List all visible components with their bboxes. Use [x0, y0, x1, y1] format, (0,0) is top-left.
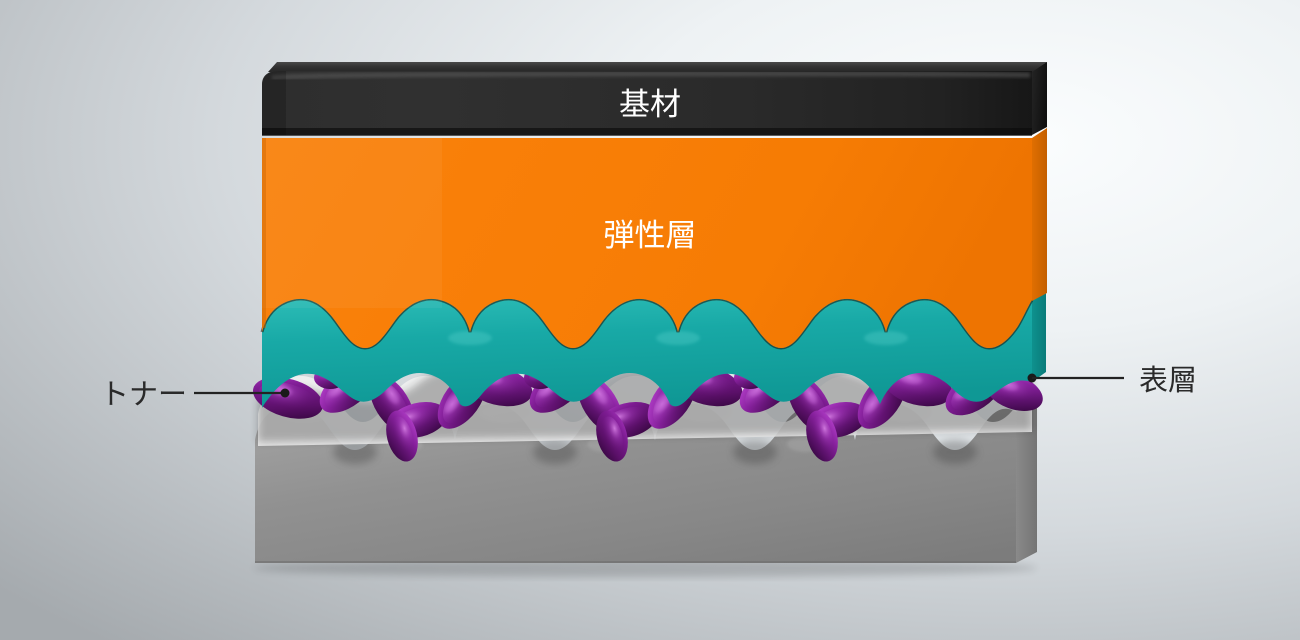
- elastic-side-face: [1032, 128, 1047, 301]
- toner-leader-dot: [281, 389, 290, 398]
- base-side-face: [1032, 62, 1047, 135]
- base-bottom-shadow: [262, 128, 1032, 136]
- base-top-face: [268, 62, 1047, 72]
- diagram-stage: 基材 弾性層 トナー 表層: [0, 0, 1300, 640]
- elastic-layer-label: 弾性層: [604, 218, 697, 254]
- base-left-edge-shade: [262, 71, 286, 135]
- elastic-left-edge: [262, 138, 266, 328]
- toner-callout-label: トナー: [100, 377, 187, 411]
- cross-section-illustration: 基材 弾性層 トナー 表層: [0, 0, 1300, 640]
- surface-side-face: [1032, 292, 1046, 382]
- surface-layer-callout-label: 表層: [1139, 363, 1197, 397]
- elastic-sheen: [262, 138, 442, 308]
- base-material-label: 基材: [619, 87, 681, 123]
